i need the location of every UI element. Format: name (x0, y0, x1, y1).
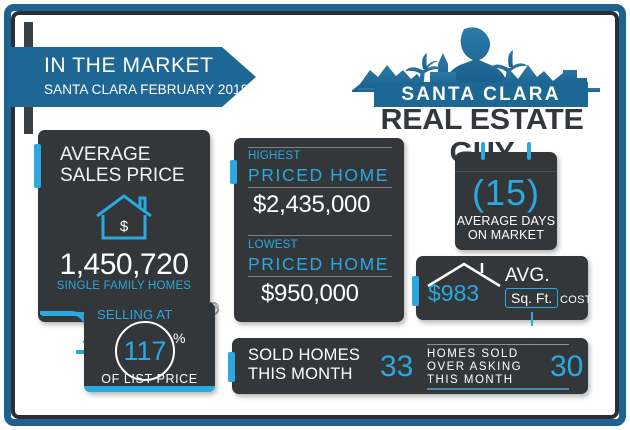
square-foot-avg-label: AVG. (505, 265, 550, 287)
over-label-line3: THIS MONTH (427, 374, 514, 386)
accent-bar (412, 276, 419, 306)
divider (248, 235, 392, 236)
sold-homes-card: SOLD HOMES THIS MONTH 33 HOMES SOLD OVER… (232, 338, 588, 394)
avg-title-line1: AVERAGE (60, 144, 150, 165)
accent-bottom-bar (84, 386, 215, 392)
days-on-market-value: (15) (455, 172, 557, 214)
square-foot-unit-box: Sq. Ft. (505, 288, 558, 308)
average-sales-price-title: AVERAGE SALES PRICE (60, 144, 185, 186)
highest-priced-home-label: PRICED HOME (248, 165, 389, 186)
days-caption-line1: AVERAGE DAYS (457, 214, 556, 228)
accent-bar (228, 352, 235, 382)
sold-homes-value: 33 (380, 350, 413, 384)
page-subtitle: SANTA CLARA FEBRUARY 2018 (44, 82, 248, 97)
selling-at-card: SELLING AT 117 % OF LIST PRICE (84, 302, 215, 392)
sold-label-line2: THIS MONTH (248, 365, 353, 383)
percent-symbol: % (173, 330, 185, 346)
selling-at-label: SELLING AT (97, 307, 172, 322)
average-sales-price-value: 1,450,720 (38, 248, 210, 282)
svg-text:$: $ (120, 218, 129, 235)
priced-homes-card: HIGHEST PRICED HOME $2,435,000 LOWEST PR… (234, 138, 404, 322)
lowest-small-label: LOWEST (248, 239, 298, 251)
average-sales-price-caption: SINGLE FAMILY HOMES (38, 280, 210, 292)
house-icon-wrapper: $ (38, 192, 210, 242)
over-label-line2: OVER ASKING (427, 361, 522, 373)
over-asking-bottom-divider (427, 388, 569, 390)
avg-title-line2: SALES PRICE (60, 165, 185, 186)
page-title: IN THE MARKET (44, 54, 214, 78)
accent-bar (230, 160, 237, 184)
over-label-line1: HOMES SOLD (427, 348, 519, 360)
sold-label-line1: SOLD HOMES (248, 346, 360, 364)
brand-logo: SANTA CLARA REAL ESTATE GUY (352, 26, 606, 130)
calendar-ring-right-icon (527, 142, 531, 160)
of-list-price-caption: OF LIST PRICE (84, 372, 215, 386)
square-foot-pointer (531, 312, 533, 326)
percent-value: 117 (123, 336, 166, 367)
square-foot-cost-label: COST (560, 294, 592, 306)
lowest-priced-home-label: PRICED HOME (248, 254, 389, 275)
highest-small-label: HIGHEST (248, 150, 301, 162)
accent-bar (34, 144, 41, 188)
square-foot-cost-card: $983 AVG. Sq. Ft. COST (416, 256, 588, 320)
days-on-market-caption: AVERAGE DAYS ON MARKET (455, 214, 557, 242)
divider (248, 147, 392, 148)
over-asking-label: HOMES SOLD OVER ASKING THIS MONTH (427, 348, 522, 387)
divider (248, 187, 392, 188)
divider (248, 276, 392, 277)
days-on-market-card: (15) AVERAGE DAYS ON MARKET (455, 152, 557, 250)
days-caption-line2: ON MARKET (468, 228, 544, 242)
house-dollar-icon: $ (93, 192, 155, 242)
highest-priced-home-value: $2,435,000 (253, 191, 370, 219)
over-asking-value: 30 (550, 350, 583, 384)
infographic-root: IN THE MARKET SANTA CLARA FEBRUARY 2018 (0, 0, 630, 430)
square-foot-price: $983 (428, 280, 479, 307)
lowest-priced-home-value: $950,000 (261, 280, 359, 308)
calendar-ring-left-icon (481, 142, 485, 160)
over-asking-top-divider (427, 344, 569, 345)
sold-homes-label: SOLD HOMES THIS MONTH (248, 346, 360, 384)
average-sales-price-card: AVERAGE SALES PRICE $ 1,450,720 SINGLE F… (38, 130, 210, 322)
